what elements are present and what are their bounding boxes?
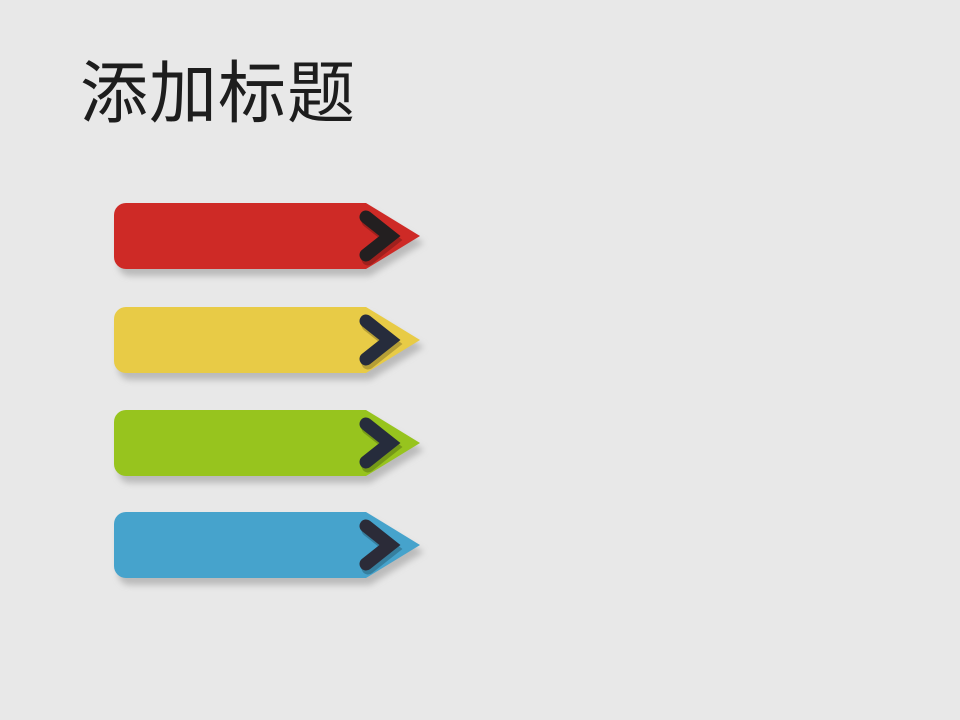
slide-canvas: 添加标题 bbox=[0, 0, 960, 720]
arrow-banner[interactable] bbox=[114, 512, 420, 578]
arrow-banner[interactable] bbox=[114, 410, 420, 476]
arrow-banner-shape bbox=[108, 301, 438, 387]
arrow-banner-shape bbox=[108, 404, 438, 490]
arrow-banner[interactable] bbox=[114, 307, 420, 373]
arrow-banner-shape bbox=[108, 197, 438, 283]
arrow-banner-shape bbox=[108, 506, 438, 592]
arrow-banner-list bbox=[0, 0, 960, 720]
arrow-banner[interactable] bbox=[114, 203, 420, 269]
